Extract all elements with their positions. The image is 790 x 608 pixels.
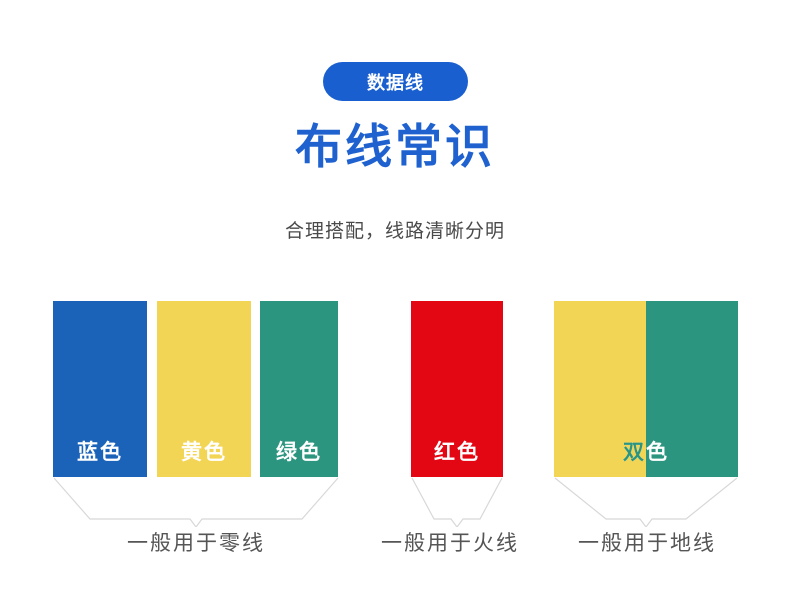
caption-ground: 一般用于地线 — [552, 529, 742, 559]
color-swatch-dual-left-overlay: 双色 — [554, 301, 646, 477]
caption-neutral: 一般用于零线 — [48, 529, 344, 559]
bracket-ground-shape — [548, 477, 744, 527]
bracket-ground — [548, 477, 744, 527]
page-title: 布线常识 — [0, 118, 790, 176]
color-swatch-green-label: 绿色 — [260, 436, 338, 466]
page-subtitle: 合理搭配，线路清晰分明 — [0, 218, 790, 246]
color-swatch-red-label: 红色 — [411, 436, 503, 466]
color-swatch-blue-label: 蓝色 — [53, 436, 147, 466]
wiring-color-guide-page: 数据线 布线常识 合理搭配，线路清晰分明 蓝色 黄色 绿色 红色 双色 双色 — [0, 0, 790, 608]
bracket-neutral-shape — [48, 477, 344, 527]
bracket-neutral — [48, 477, 344, 527]
color-swatch-green: 绿色 — [260, 301, 338, 477]
bracket-live-shape — [404, 477, 510, 527]
caption-live: 一般用于火线 — [360, 529, 540, 559]
category-badge: 数据线 — [323, 62, 468, 101]
bracket-live — [404, 477, 510, 527]
color-swatch-red: 红色 — [411, 301, 503, 477]
color-swatch-yellow-label: 黄色 — [157, 436, 251, 466]
color-swatch-yellow: 黄色 — [157, 301, 251, 477]
color-swatch-dual: 双色 双色 — [554, 301, 738, 477]
color-swatch-blue: 蓝色 — [53, 301, 147, 477]
color-swatch-dual-label-left: 双色 — [554, 436, 646, 466]
category-badge-label: 数据线 — [367, 69, 424, 95]
